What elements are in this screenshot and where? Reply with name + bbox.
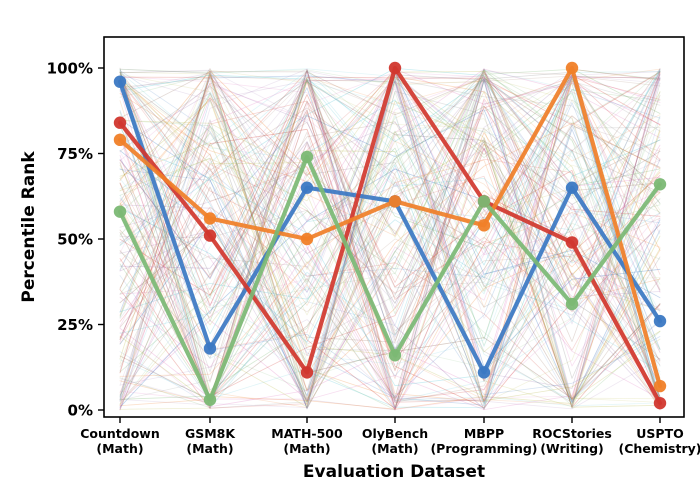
x-tick-label: (Math) — [96, 441, 143, 456]
data-point-marker — [204, 212, 216, 224]
y-tick-label: 0% — [68, 402, 93, 420]
data-point-marker — [654, 178, 666, 190]
data-point-marker — [389, 62, 401, 74]
x-tick-label: GSM8K — [185, 426, 236, 441]
data-point-marker — [478, 195, 490, 207]
data-point-marker — [301, 366, 313, 378]
x-tick-label: (Math) — [186, 441, 233, 456]
y-tick-label: 75% — [57, 145, 93, 163]
x-tick-label: (Programming) — [430, 441, 537, 456]
y-tick-label: 50% — [57, 231, 93, 249]
y-tick-label: 25% — [57, 316, 93, 334]
data-point-marker — [301, 151, 313, 163]
data-point-marker — [566, 236, 578, 248]
x-tick-label: OlyBench — [362, 426, 428, 441]
parallel-coordinates-chart: 0%25%50%75%100% Countdown(Math)GSM8K(Mat… — [0, 0, 700, 488]
data-point-marker — [114, 134, 126, 146]
x-axis-title: Evaluation Dataset — [303, 462, 485, 482]
data-point-marker — [389, 349, 401, 361]
data-point-marker — [204, 342, 216, 354]
data-point-marker — [566, 62, 578, 74]
x-tick-label: MBPP — [464, 426, 504, 441]
data-point-marker — [478, 219, 490, 231]
data-point-marker — [566, 182, 578, 194]
data-point-marker — [114, 205, 126, 217]
data-point-marker — [114, 75, 126, 87]
data-point-marker — [654, 397, 666, 409]
x-tick-label: (Chemistry) — [618, 441, 700, 456]
x-tick-label: (Math) — [371, 441, 418, 456]
data-point-marker — [654, 380, 666, 392]
data-point-marker — [114, 117, 126, 129]
x-tick-label: (Math) — [283, 441, 330, 456]
data-point-marker — [654, 315, 666, 327]
y-tick-label: 100% — [47, 60, 93, 78]
data-point-marker — [301, 182, 313, 194]
chart-root: 0%25%50%75%100% Countdown(Math)GSM8K(Mat… — [0, 0, 700, 488]
data-point-marker — [389, 195, 401, 207]
data-point-marker — [204, 394, 216, 406]
x-tick-label: (Writing) — [540, 441, 604, 456]
x-tick-label: ROCStories — [532, 426, 612, 441]
x-tick-label: USPTO — [636, 426, 683, 441]
x-tick-label: MATH-500 — [271, 426, 343, 441]
data-point-marker — [478, 366, 490, 378]
data-point-marker — [566, 298, 578, 310]
data-point-marker — [204, 229, 216, 241]
data-point-marker — [301, 233, 313, 245]
x-tick-label: Countdown — [80, 426, 160, 441]
y-axis-title: Percentile Rank — [19, 151, 39, 303]
